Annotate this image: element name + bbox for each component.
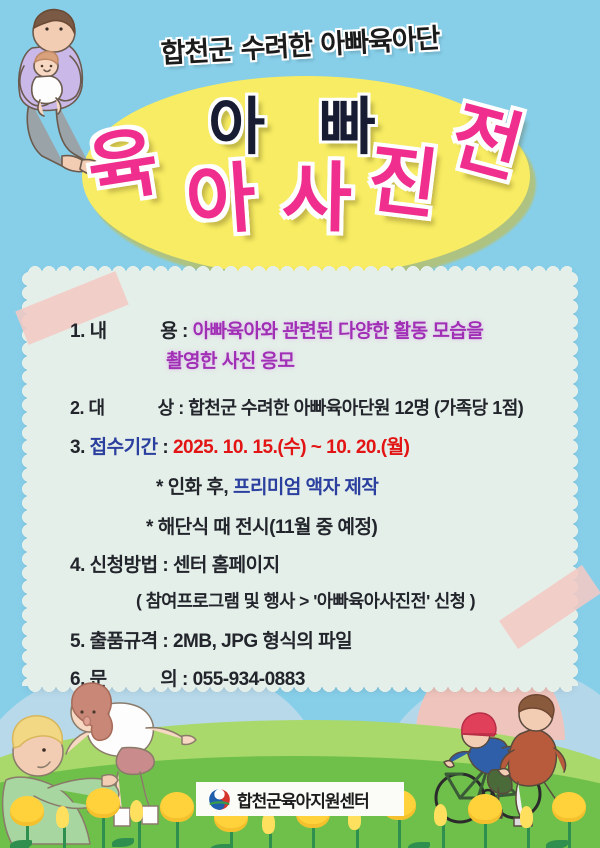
item5-colon: : xyxy=(162,631,168,652)
item2-label-b: 상 xyxy=(158,398,174,418)
item4-value: 센터 홈페이지 xyxy=(173,555,280,576)
note1-text-blue: 프리미엄 액자 제작 xyxy=(233,477,378,498)
center-logo: 합천군육아지원센터 xyxy=(196,782,404,816)
info-item-4: 4. 신청방법 : 센터 홈페이지 xyxy=(70,550,280,577)
item2-colon: : xyxy=(178,398,184,418)
father-lifting-child-icon xyxy=(0,676,294,848)
info-item-2: 2. 대 상 : 합천군 수려한 아빠육아단원 12명 (가족당 1점) xyxy=(70,394,523,420)
item1-label-a: 내 xyxy=(90,321,107,342)
item1-colon: : xyxy=(182,321,188,342)
taegeuk-icon xyxy=(208,788,231,811)
info-item-5: 5. 출품규격 : 2MB, JPG 형식의 파일 xyxy=(70,626,352,653)
item5-number: 5. xyxy=(70,631,85,652)
info-item-1: 1. 내 용 : 아빠육아와 관련된 다양한 활동 모습을 xyxy=(70,316,483,343)
item3-colon: : xyxy=(162,437,168,458)
title-char-4: 진 xyxy=(364,140,443,224)
item3-label: 접수기간 xyxy=(90,437,158,458)
item3-number: 3. xyxy=(70,437,85,458)
item5-value: 2MB, JPG 형식의 파일 xyxy=(173,631,352,652)
item4-colon: : xyxy=(162,555,168,576)
item2-label-a: 대 xyxy=(89,398,105,418)
item4-label: 신청방법 xyxy=(90,555,158,576)
item3-value: 2025. 10. 15.(수) ~ 10. 20.(월) xyxy=(173,437,409,458)
paper-edge-right xyxy=(571,272,580,686)
title-char-1: 육 xyxy=(82,123,163,209)
title-char-2: 아 xyxy=(183,160,258,241)
note2-text: 해단식 때 전시(11월 중 예정) xyxy=(158,517,378,538)
item1-number: 1. xyxy=(70,321,85,342)
item1-value-line2: 촬영한 사진 응모 xyxy=(166,346,294,373)
title-char-3: 사 xyxy=(281,159,352,236)
item1-value-line1: 아빠육아와 관련된 다양한 활동 모습을 xyxy=(193,321,484,342)
note1-text-plain: 인화 후, xyxy=(168,477,229,498)
item4-sub: ( 참여프로그램 및 행사 > '아빠육아사진전' 신청 ) xyxy=(136,588,475,613)
item4-number: 4. xyxy=(70,555,85,576)
item2-value: 합천군 수려한 아빠육아단원 12명 (가족당 1점) xyxy=(188,398,523,418)
item2-number: 2. xyxy=(70,398,84,418)
logo-label: 합천군육아지원센터 xyxy=(237,787,369,812)
info-text-block: 1. 내 용 : 아빠육아와 관련된 다양한 활동 모습을 촬영한 사진 응모 … xyxy=(28,272,572,686)
poster-canvas: 합천군 수려한 아빠육아단 아 빠 육 아 사 진 전 1. 내 용 : 아빠육… xyxy=(0,0,600,848)
item1-label-b: 용 xyxy=(160,321,177,342)
note2-bullet: * xyxy=(146,517,153,538)
info-note-1: * 인화 후, 프리미엄 액자 제작 xyxy=(156,472,378,499)
info-item-3: 3. 접수기간 : 2025. 10. 15.(수) ~ 10. 20.(월) xyxy=(70,432,409,459)
info-note-2: * 해단식 때 전시(11월 중 예정) xyxy=(146,512,377,539)
note1-bullet: * xyxy=(156,477,163,498)
item5-label: 출품규격 xyxy=(90,631,158,652)
